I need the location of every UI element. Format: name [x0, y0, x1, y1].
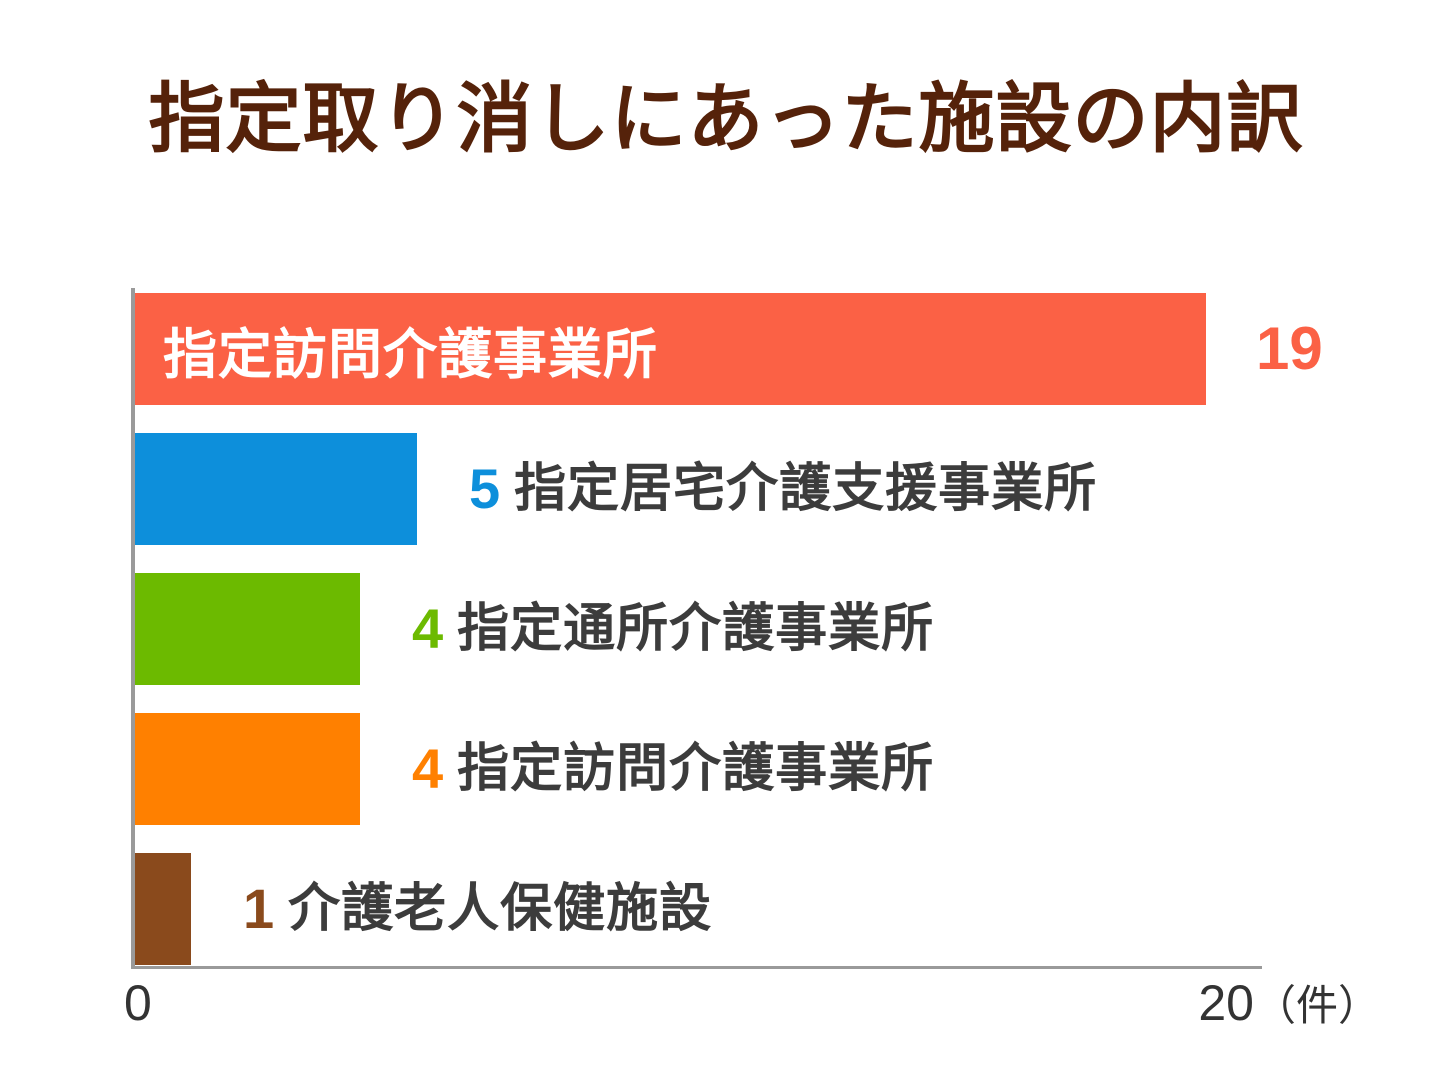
- bar-value-group-5: 1 介護老人保健施設: [243, 853, 712, 965]
- bar-label-3: 指定通所介護事業所: [457, 603, 934, 655]
- bar-value-5: 1: [243, 881, 274, 937]
- bar-chart-plot-area: 指定訪問介護事業所 19 5 指定居宅介護支援事業所 4 指定通所介護事業所 4…: [0, 0, 1452, 1089]
- bar-value-group-1: 19: [1256, 293, 1323, 405]
- x-axis-tick-max: 20（件）: [1198, 978, 1380, 1028]
- bar-value-2: 5: [469, 461, 500, 517]
- bar-value-1: 19: [1256, 319, 1323, 379]
- x-axis-unit-label: （件）: [1254, 982, 1380, 1029]
- bar-value-4: 4: [412, 741, 443, 797]
- bar-rect-2[interactable]: [135, 433, 417, 545]
- x-axis-line: [131, 966, 1262, 969]
- bar-label-5: 介護老人保健施設: [288, 883, 712, 935]
- bar-rect-5[interactable]: [135, 853, 191, 965]
- bar-rect-4[interactable]: [135, 713, 360, 825]
- bar-value-group-4: 4 指定訪問介護事業所: [412, 713, 934, 825]
- x-axis-tick-max-value: 20: [1198, 975, 1254, 1031]
- bar-value-group-2: 5 指定居宅介護支援事業所: [469, 433, 1097, 545]
- bar-label-2: 指定居宅介護支援事業所: [514, 463, 1097, 515]
- bar-rect-3[interactable]: [135, 573, 360, 685]
- bar-label-1: 指定訪問介護事業所: [163, 293, 1234, 405]
- bar-value-3: 4: [412, 601, 443, 657]
- x-axis-tick-min: 0: [124, 978, 152, 1028]
- bar-value-group-3: 4 指定通所介護事業所: [412, 573, 934, 685]
- bar-label-4: 指定訪問介護事業所: [457, 743, 934, 795]
